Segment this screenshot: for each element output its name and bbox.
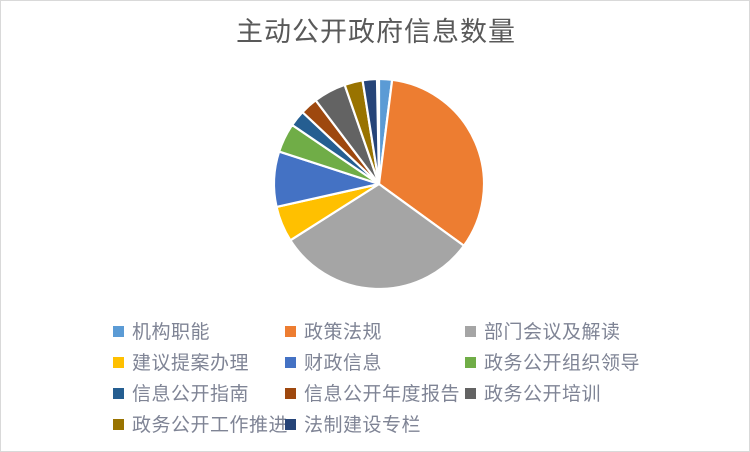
legend-item-label: 法制建设专栏 [304, 410, 421, 441]
legend-swatch-icon [113, 326, 124, 337]
legend-swatch-icon [285, 419, 296, 430]
legend-item[interactable]: 政务公开工作推进 [113, 410, 285, 441]
legend-item[interactable]: 政务公开组织领导 [465, 348, 655, 379]
legend-item-label: 政务公开工作推进 [132, 410, 288, 441]
legend-row: 机构职能政策法规部门会议及解读 [113, 317, 653, 348]
legend-item-label: 信息公开年度报告 [304, 379, 460, 410]
legend-swatch-icon [285, 388, 296, 399]
legend-item-label: 政务公开组织领导 [484, 348, 640, 379]
chart-legend: 机构职能政策法规部门会议及解读建议提案办理财政信息政务公开组织领导信息公开指南信… [113, 317, 653, 441]
pie-plot-area [266, 71, 496, 301]
legend-item-label: 政策法规 [304, 317, 382, 348]
legend-row: 政务公开工作推进法制建设专栏 [113, 410, 653, 441]
legend-item[interactable]: 政策法规 [285, 317, 465, 348]
legend-swatch-icon [465, 388, 476, 399]
legend-swatch-icon [285, 357, 296, 368]
chart-title: 主动公开政府信息数量 [1, 15, 750, 49]
pie-chart-svg [266, 71, 496, 301]
chart-container: 主动公开政府信息数量 机构职能政策法规部门会议及解读建议提案办理财政信息政务公开… [0, 0, 750, 452]
legend-swatch-icon [113, 357, 124, 368]
legend-swatch-icon [285, 326, 296, 337]
legend-item[interactable]: 法制建设专栏 [285, 410, 465, 441]
legend-swatch-icon [465, 357, 476, 368]
pie-slice-group [274, 79, 484, 289]
legend-item[interactable]: 信息公开指南 [113, 379, 285, 410]
legend-item[interactable]: 部门会议及解读 [465, 317, 655, 348]
legend-item-label: 建议提案办理 [132, 348, 249, 379]
legend-item-label: 信息公开指南 [132, 379, 249, 410]
legend-item[interactable]: 政务公开培训 [465, 379, 655, 410]
legend-item-label: 机构职能 [132, 317, 210, 348]
legend-swatch-icon [113, 419, 124, 430]
legend-item[interactable]: 信息公开年度报告 [285, 379, 465, 410]
legend-item[interactable]: 财政信息 [285, 348, 465, 379]
legend-swatch-icon [113, 388, 124, 399]
legend-row: 信息公开指南信息公开年度报告政务公开培训 [113, 379, 653, 410]
legend-item-label: 财政信息 [304, 348, 382, 379]
legend-row: 建议提案办理财政信息政务公开组织领导 [113, 348, 653, 379]
legend-item-label: 部门会议及解读 [484, 317, 621, 348]
legend-item[interactable]: 建议提案办理 [113, 348, 285, 379]
legend-swatch-icon [465, 326, 476, 337]
legend-item[interactable]: 机构职能 [113, 317, 285, 348]
legend-item-label: 政务公开培训 [484, 379, 601, 410]
